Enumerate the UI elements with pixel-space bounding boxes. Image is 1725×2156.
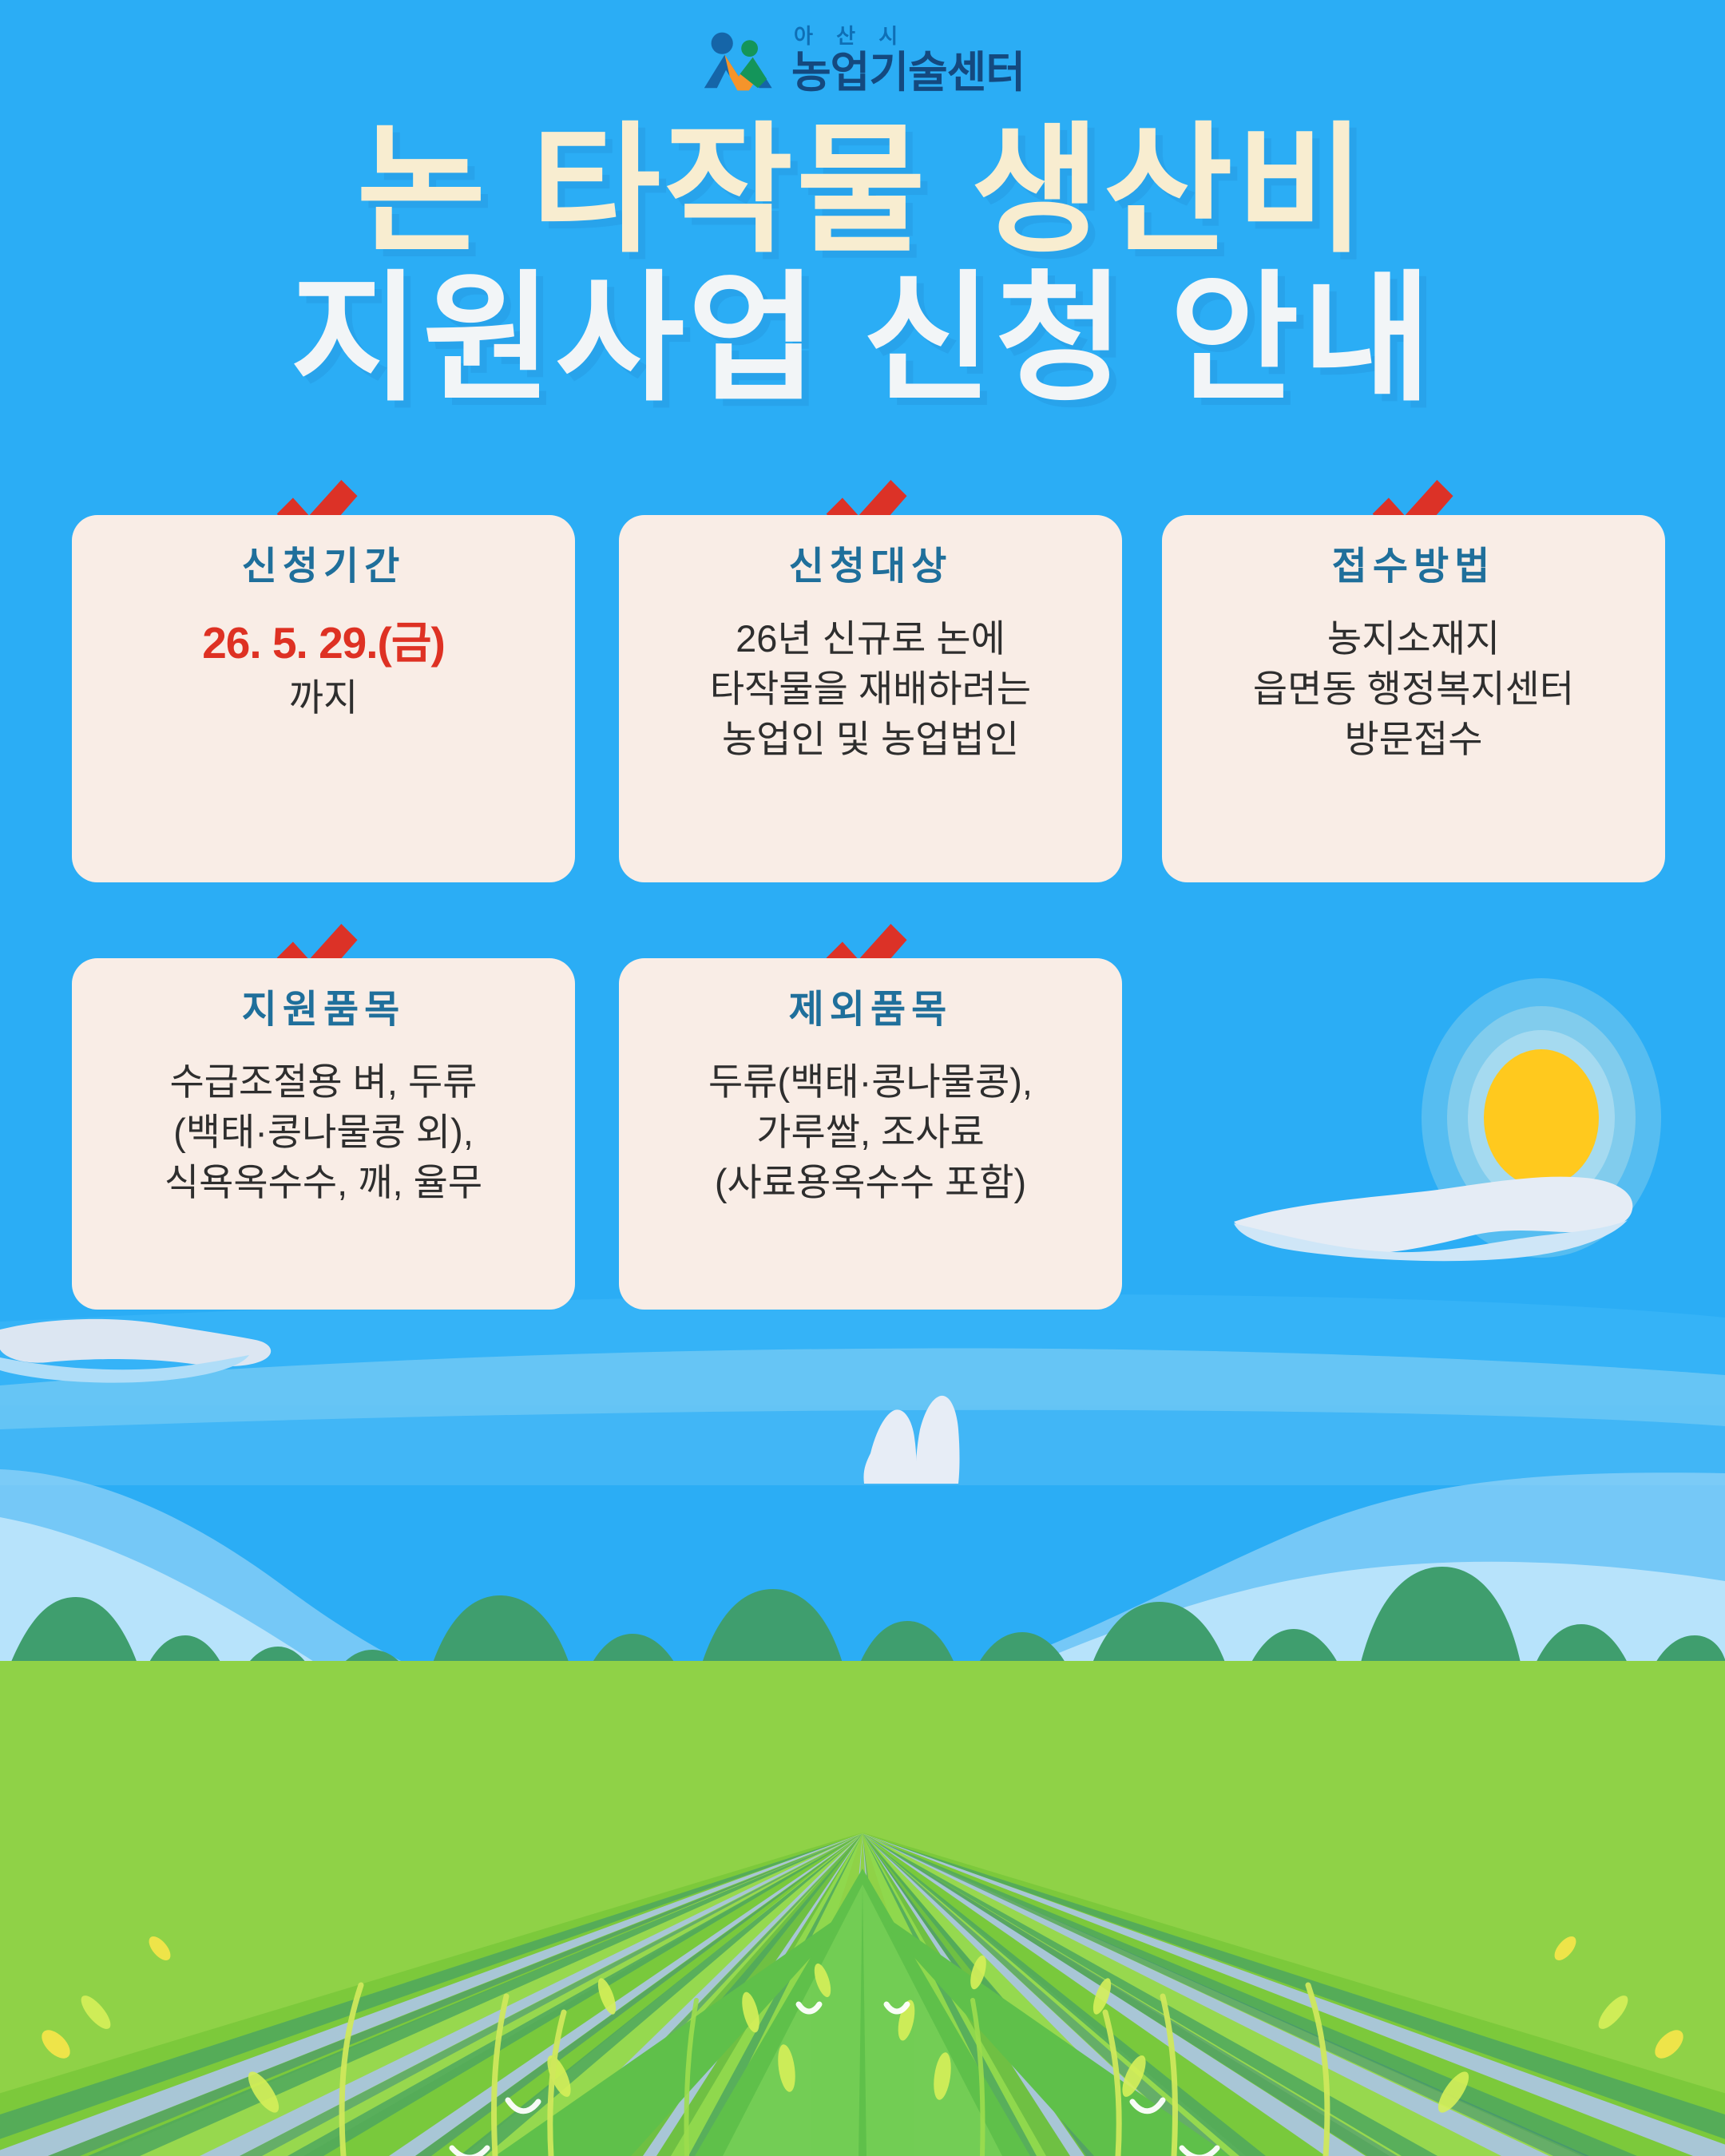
logo: 아 산 시 농업기술센터	[0, 26, 1725, 94]
card-line: (사료용옥수수 포함)	[708, 1158, 1033, 1208]
card-body: 26년 신규로 논에 타작물을 재배하려는 농업인 및 농업법인	[710, 614, 1031, 765]
card-body: 26. 5. 29.(금) 까지	[202, 614, 445, 723]
card-heading: 지원품목	[242, 977, 406, 1033]
card-line: 타작물을 재배하려는	[710, 664, 1031, 715]
card-heading: 신청기간	[242, 534, 406, 590]
card-body: 수급조절용 벼, 두류 (백태·콩나물콩 외), 식욕옥수수, 깨, 율무	[165, 1057, 482, 1208]
card-heading: 접수방법	[1332, 534, 1496, 590]
card-line: 까지	[202, 673, 445, 723]
card-heading: 제외품목	[789, 977, 953, 1033]
card-line: 가루쌀, 조사료	[708, 1108, 1033, 1158]
card-line: 방문접수	[1253, 715, 1574, 765]
card-line: 수급조절용 벼, 두류	[165, 1057, 482, 1108]
card-line: 읍면동 행정복지센터	[1253, 664, 1574, 715]
info-card-supported-items: 지원품목 수급조절용 벼, 두류 (백태·콩나물콩 외), 식욕옥수수, 깨, …	[72, 958, 575, 1310]
title-line-2: 지원사업 신청 안내	[0, 268, 1725, 412]
card-body: 농지소재지 읍면동 행정복지센터 방문접수	[1253, 614, 1574, 765]
card-line: 농지소재지	[1253, 614, 1574, 664]
card-line: 농업인 및 농업법인	[710, 715, 1031, 765]
rice-paddy-field-icon	[0, 1661, 1725, 2156]
info-card-eligibility: 신청대상 26년 신규로 논에 타작물을 재배하려는 농업인 및 농업법인	[619, 515, 1122, 882]
card-line: 식욕옥수수, 깨, 율무	[165, 1158, 482, 1208]
poster: 아 산 시 농업기술센터 논 타작물 생산비 지원사업 신청 안내 신청기간 2…	[0, 0, 1725, 2156]
info-card-application-period: 신청기간 26. 5. 29.(금) 까지	[72, 515, 575, 882]
card-line: 두류(백태·콩나물콩),	[708, 1057, 1033, 1108]
asan-agri-logo-icon	[700, 29, 777, 91]
logo-city-name: 아 산 시	[794, 26, 1025, 46]
card-heading: 신청대상	[789, 534, 953, 590]
info-card-excluded-items: 제외품목 두류(백태·콩나물콩), 가루쌀, 조사료 (사료용옥수수 포함)	[619, 958, 1122, 1310]
card-line: 26년 신규로 논에	[710, 614, 1031, 664]
logo-center-name: 농업기술센터	[791, 51, 1025, 94]
card-line: (백태·콩나물콩 외),	[165, 1108, 482, 1158]
title-line-1: 논 타작물 생산비	[0, 120, 1725, 264]
info-card-application-method: 접수방법 농지소재지 읍면동 행정복지센터 방문접수	[1162, 515, 1665, 882]
card-line: 26. 5. 29.(금)	[202, 614, 445, 673]
page-title: 논 타작물 생산비 지원사업 신청 안내	[0, 120, 1725, 411]
card-body: 두류(백태·콩나물콩), 가루쌀, 조사료 (사료용옥수수 포함)	[708, 1057, 1033, 1208]
